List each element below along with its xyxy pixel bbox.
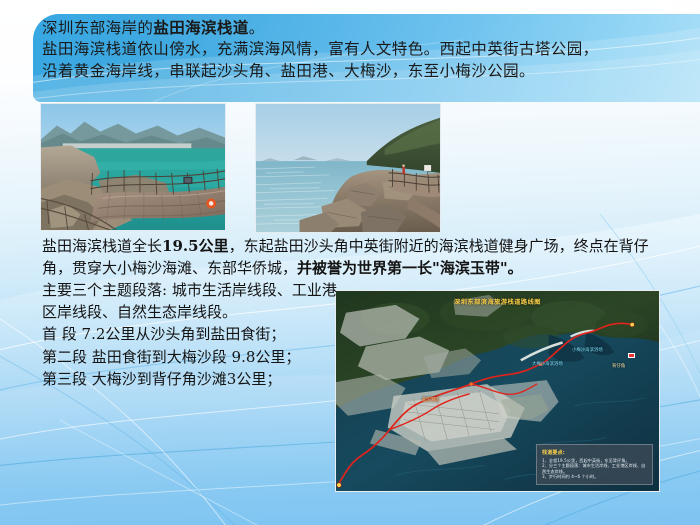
- paragraph-overview: 盐田海滨栈道全长19.5公里，东起盐田沙头角中英街附近的海滨栈道健身广场，终点在…: [42, 236, 667, 279]
- paragraph-section-2: 第二段 盐田食街到大梅沙段 9.8公里；: [42, 347, 342, 369]
- map-legend-item-3: 3、步行时间约 4~6 个小时。: [542, 474, 647, 480]
- para1-part-a: 盐田海滨栈道全长: [42, 237, 162, 255]
- header-line-3: 沿着黄金海岸线，串联起沙头角、盐田港、大梅沙，东至小梅沙公园。: [42, 60, 672, 82]
- section2-label: 第二段: [42, 348, 92, 366]
- section2-detail: 盐田食街到大梅沙段 9.8公里；: [92, 348, 301, 366]
- photo-boardwalk-bay: [40, 103, 226, 231]
- header-line1-bold: 盐田海滨栈道: [153, 18, 248, 37]
- header-line-1: 深圳东部海岸的盐田海滨栈道。: [42, 18, 672, 38]
- header-line-2: 盐田海滨栈道依山傍水，充满滨海风情，富有人文特色。西起中英街古塔公园，: [42, 38, 672, 60]
- section3-detail: 大梅沙到背仔角沙滩3公里；: [92, 370, 282, 388]
- paragraph-sections: 主要三个主题段落: 城市生活岸线段、工业港区岸线段、自然生态岸线段。: [42, 280, 342, 323]
- section1-detail: 7.2公里从沙头角到盐田食街；: [82, 325, 286, 343]
- header-text-block: 深圳东部海岸的盐田海滨栈道。 盐田海滨栈道依山傍水，充满滨海风情，富有人文特色。…: [42, 18, 672, 82]
- map-legend: 栈道要点: 1、全程19.5公里，西起中英街，东至背仔角。 2、分三个主题段落：…: [536, 444, 653, 485]
- header-line1-suffix: 。: [249, 19, 265, 37]
- map-label-yantian-port: 盐田港区: [422, 397, 440, 403]
- body-text-block: 盐田海滨栈道全长19.5公里，东起盐田沙头角中英街附近的海滨栈道健身广场，终点在…: [42, 236, 667, 391]
- para1-honour: 并被誉为世界第一长"海滨玉带"。: [297, 259, 523, 277]
- paragraph-section-3: 第三段 大梅沙到背仔角沙滩3公里；: [42, 369, 342, 391]
- map-legend-item-2: 2、分三个主题段落：城市生活岸线、工业港区岸线、自然生态岸线。: [542, 463, 647, 474]
- header-line1-prefix: 深圳东部海岸的: [42, 19, 153, 37]
- section1-label: 首 段: [42, 325, 82, 343]
- photo-rocky-headland: [255, 103, 441, 233]
- para1-distance: 19.5公里: [162, 237, 229, 255]
- paragraph-section-1: 首 段 7.2公里从沙头角到盐田食街；: [42, 324, 342, 346]
- map-legend-title: 栈道要点:: [542, 449, 647, 456]
- slide-root: 深圳东部海岸的盐田海滨栈道。 盐田海滨栈道依山傍水，充满滨海风情，富有人文特色。…: [0, 0, 700, 525]
- section3-label: 第三段: [42, 370, 92, 388]
